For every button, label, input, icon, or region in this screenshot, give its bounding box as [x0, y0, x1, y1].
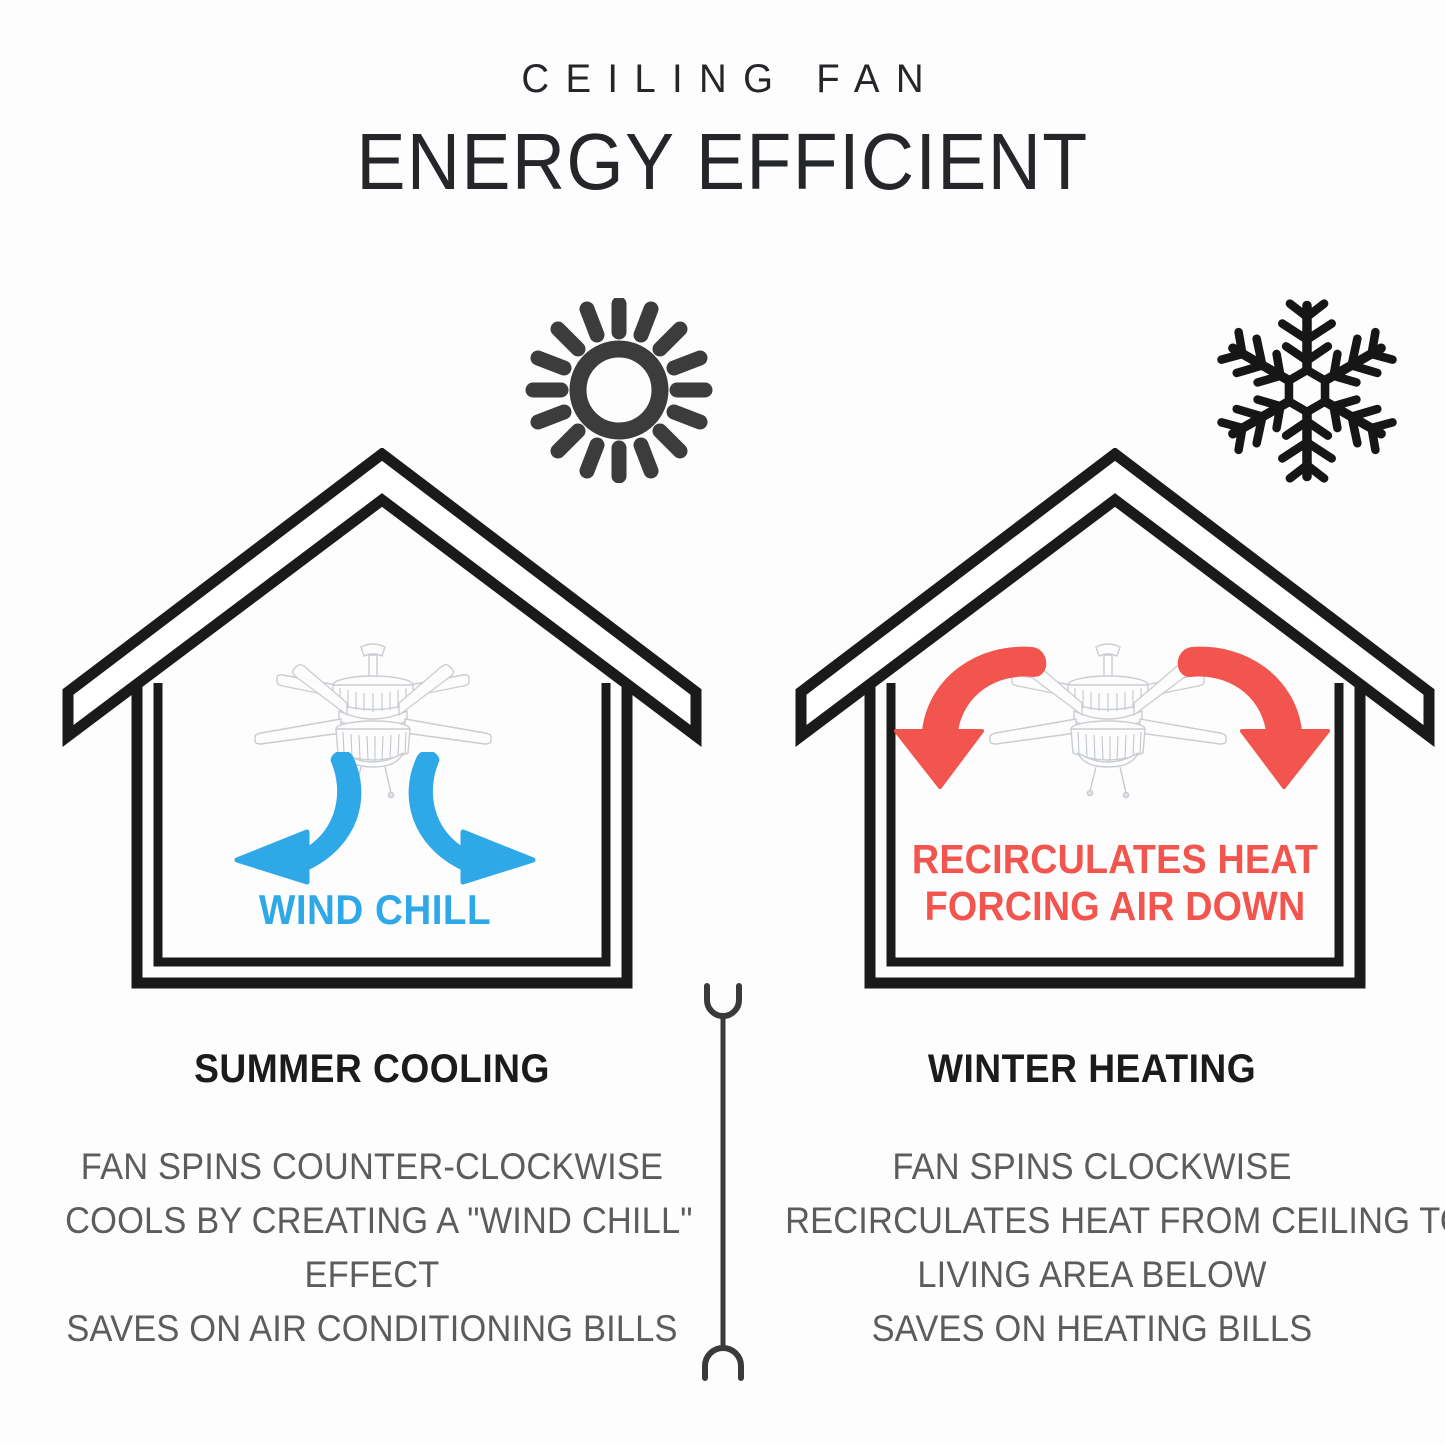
summer-body-line-2: COOLS BY CREATING A "WIND CHILL" [65, 1194, 679, 1248]
eyebrow-title: CEILING FAN [29, 52, 1416, 106]
winter-heating-body: FAN SPINS CLOCKWISE RECIRCULATES HEAT FR… [785, 1140, 1399, 1356]
header: CEILING FAN ENERGY EFFICIENT [0, 52, 1445, 208]
winter-heating-column: WINTER HEATING FAN SPINS CLOCKWISE RECIR… [762, 1046, 1422, 1356]
summer-body-line-3: EFFECT [65, 1248, 679, 1302]
airflow-arrows-cooling [215, 752, 555, 887]
page-title: ENERGY EFFICIENT [58, 116, 1387, 208]
airflow-arrows-heating [882, 635, 1342, 795]
recirculates-heat-label-line-1: RECIRCULATES HEAT [912, 836, 1318, 882]
infographic-canvas: CEILING FAN ENERGY EFFICIENT [0, 0, 1445, 1445]
wind-chill-label-line-1: WIND CHILL [259, 886, 491, 933]
recirculates-heat-label-line-2: FORCING AIR DOWN [876, 883, 1354, 930]
winter-body-line-3: LIVING AREA BELOW [785, 1248, 1399, 1302]
wind-chill-label: WIND CHILL [136, 886, 614, 934]
summer-body-line-1: FAN SPINS COUNTER-CLOCKWISE [65, 1140, 679, 1194]
summer-cooling-column: SUMMER COOLING FAN SPINS COUNTER-CLOCKWI… [42, 1046, 702, 1356]
winter-body-line-2: RECIRCULATES HEAT FROM CEILING TO [785, 1194, 1399, 1248]
winter-heating-title: WINTER HEATING [785, 1046, 1399, 1092]
winter-body-line-1: FAN SPINS CLOCKWISE [785, 1140, 1399, 1194]
summer-cooling-body: FAN SPINS COUNTER-CLOCKWISE COOLS BY CRE… [65, 1140, 679, 1356]
winter-body-line-4: SAVES ON HEATING BILLS [785, 1302, 1399, 1356]
summer-body-line-4: SAVES ON AIR CONDITIONING BILLS [65, 1302, 679, 1356]
recirculates-heat-label: RECIRCULATES HEAT FORCING AIR DOWN [876, 836, 1354, 929]
summer-cooling-title: SUMMER COOLING [65, 1046, 679, 1092]
pull-chain-divider [697, 982, 749, 1382]
